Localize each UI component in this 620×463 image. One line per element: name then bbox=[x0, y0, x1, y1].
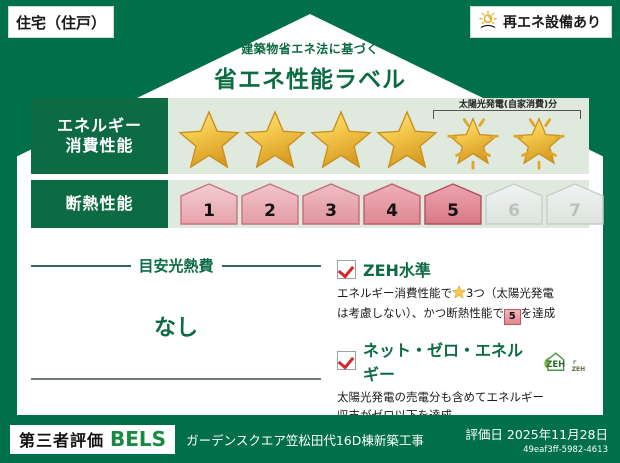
house-type-badge: 住宅（住戸） bbox=[8, 6, 114, 38]
insulation-label-text: 断熱性能 bbox=[65, 194, 133, 214]
insulation-grade-5: 5 bbox=[424, 183, 482, 225]
zeh-desc-part2: は考慮しない）、かつ断熱性能で bbox=[337, 306, 504, 320]
insulation-grade-value: 6 bbox=[485, 201, 543, 221]
evaluation-info: 評価日 2025年11月28日 49eaf3ff-5982-4613 bbox=[465, 424, 608, 455]
star-icon bbox=[310, 110, 372, 170]
insulation-grade-value: 1 bbox=[180, 201, 238, 221]
zeh-desc-star-text: 3つ（太陽光発電 bbox=[466, 286, 554, 300]
star-icon bbox=[376, 110, 438, 170]
energy-cost-value: なし bbox=[31, 310, 321, 342]
renewable-label: 再エネ設備あり bbox=[503, 12, 601, 32]
zeh-column: ZEH水準 エネルギー消費性能で3つ（太陽光発電は考慮しない）、かつ断熱性能で5… bbox=[321, 255, 589, 436]
insulation-grade-list: 1 2 3 bbox=[168, 183, 604, 225]
star-icon bbox=[244, 110, 306, 170]
energy-performance-row: エネルギー 消費性能 bbox=[31, 98, 589, 174]
net-zero-block: ネット・ゼロ・エネルギー ZEH ｒZEH 太陽光発電の売電分も含めてエネルギー… bbox=[337, 337, 589, 425]
star-icon-solar bbox=[508, 110, 570, 170]
insulation-grade-value: 4 bbox=[363, 201, 421, 221]
insulation-performance-body: 1 2 3 bbox=[168, 180, 604, 228]
energy-cost-title: 目安光熱費 bbox=[139, 255, 214, 276]
checkbox-net-zero[interactable] bbox=[337, 351, 356, 370]
star-icon-solar bbox=[442, 110, 504, 170]
energy-cost-heading: 目安光熱費 bbox=[31, 255, 321, 276]
evaluation-date: 評価日 2025年11月28日 bbox=[465, 424, 608, 443]
header-title: 省エネ性能ラベル bbox=[0, 60, 620, 94]
net-zero-title: ネット・ゼロ・エネルギー bbox=[363, 337, 529, 385]
star-rating bbox=[168, 110, 570, 170]
heading-rule-right bbox=[222, 265, 322, 267]
insulation-grade-4: 4 bbox=[363, 183, 421, 225]
bels-en-label: BELS bbox=[110, 427, 166, 451]
evaluation-id: 49eaf3ff-5982-4613 bbox=[465, 445, 608, 455]
zeh-desc-part3: を達成 bbox=[521, 306, 556, 320]
zeh-desc-part1: エネルギー消費性能で bbox=[337, 286, 452, 300]
bels-jp-label: 第三者評価 bbox=[19, 427, 104, 451]
star-icon bbox=[178, 110, 240, 170]
solar-bracket bbox=[433, 110, 581, 119]
zeh-standard-title-row: ZEH水準 bbox=[337, 257, 589, 281]
sun-icon bbox=[478, 10, 498, 34]
insulation-grade-7: 7 bbox=[546, 183, 604, 225]
renewable-equipment-badge: 再エネ設備あり bbox=[470, 6, 612, 38]
label-footer: 第三者評価 BELS ガーデンスクエア笠松田代16D棟新築工事 評価日 2025… bbox=[0, 415, 620, 463]
net-zero-title-row: ネット・ゼロ・エネルギー ZEH ｒZEH bbox=[337, 337, 589, 385]
header-subtitle: 建築物省エネ法に基づく bbox=[0, 40, 620, 57]
checkbox-zeh-standard[interactable] bbox=[337, 260, 356, 279]
zeh-standard-block: ZEH水準 エネルギー消費性能で3つ（太陽光発電は考慮しない）、かつ断熱性能で5… bbox=[337, 257, 589, 325]
energy-performance-label: エネルギー 消費性能 bbox=[31, 98, 168, 174]
energy-cost-column: 目安光熱費 なし bbox=[31, 255, 321, 436]
insulation-grade-3: 3 bbox=[302, 183, 360, 225]
solar-note-label: 太陽光発電(自家消費)分 bbox=[433, 97, 583, 110]
insulation-grade-value: 3 bbox=[302, 201, 360, 221]
inline-star-icon bbox=[452, 285, 466, 305]
net-zero-desc-line1: 太陽光発電の売電分も含めてエネルギー bbox=[337, 390, 544, 404]
energy-cost-bottom-rule bbox=[31, 378, 321, 380]
bels-badge: 第三者評価 BELS bbox=[10, 425, 175, 454]
zeh-logo-sub: ｒZEH bbox=[572, 357, 589, 373]
label-header: 建築物省エネ法に基づく 省エネ性能ラベル bbox=[0, 40, 620, 94]
insulation-grade-value: 7 bbox=[546, 201, 604, 221]
svg-text:ZEH: ZEH bbox=[546, 360, 565, 370]
insulation-performance-row: 断熱性能 1 2 bbox=[31, 180, 589, 228]
insulation-performance-label: 断熱性能 bbox=[31, 180, 168, 228]
house-type-label: 住宅（住戸） bbox=[16, 12, 106, 33]
zeh-logo-icon: ZEH ｒZEH bbox=[540, 349, 589, 373]
zeh-standard-description: エネルギー消費性能で3つ（太陽光発電は考慮しない）、かつ断熱性能で5を達成 bbox=[337, 285, 589, 325]
inline-grade-badge: 5 bbox=[504, 309, 521, 325]
energy-performance-body: 太陽光発電(自家消費)分 bbox=[168, 98, 589, 174]
energy-label-line2: 消費性能 bbox=[65, 136, 133, 156]
project-name: ガーデンスクエア笠松田代16D棟新築工事 bbox=[186, 430, 424, 449]
insulation-grade-1: 1 bbox=[180, 183, 238, 225]
lower-section: 目安光熱費 なし ZEH水準 エネルギー消費性能で3つ（太陽光発電は考慮しない）… bbox=[31, 255, 589, 436]
energy-label-card: 住宅（住戸） 再エネ設備あり 建築物省エネ法に基づく bbox=[0, 0, 620, 463]
insulation-grade-2: 2 bbox=[241, 183, 299, 225]
heading-rule-left bbox=[31, 265, 131, 267]
insulation-grade-value: 2 bbox=[241, 201, 299, 221]
zeh-standard-title: ZEH水準 bbox=[363, 257, 431, 281]
insulation-grade-6: 6 bbox=[485, 183, 543, 225]
insulation-grade-value: 5 bbox=[424, 201, 482, 221]
performance-rows: エネルギー 消費性能 bbox=[31, 98, 589, 234]
energy-label-line1: エネルギー bbox=[57, 116, 142, 136]
